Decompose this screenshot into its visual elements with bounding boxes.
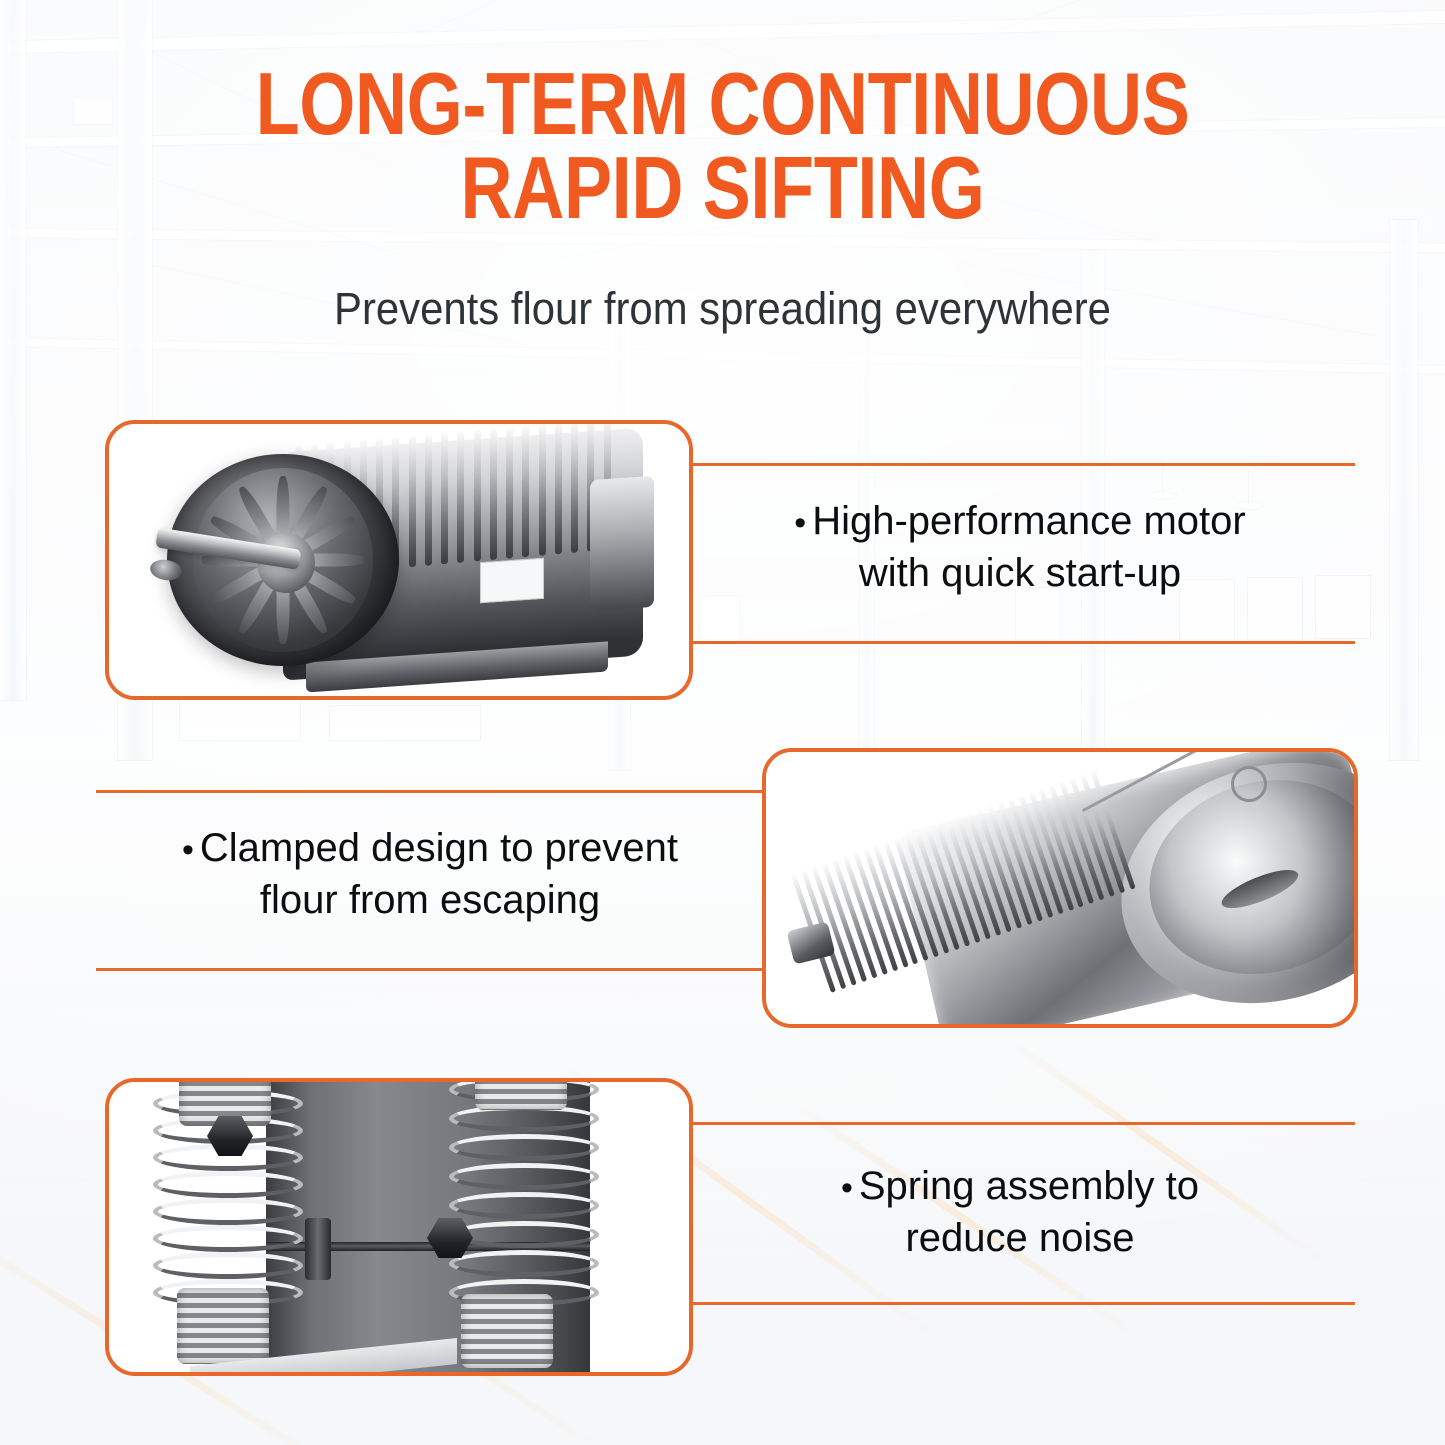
connector-line-spring-bottom <box>683 1302 1355 1305</box>
motor-end-cap <box>590 476 654 611</box>
feature-clamp-line-1: Clamped design to prevent <box>200 826 678 870</box>
spring-assembly-photo <box>109 1082 689 1372</box>
bullet-icon: • <box>182 831 200 869</box>
feature-text-clamp: •Clamped design to prevent flour from es… <box>110 822 750 926</box>
spring-mount-bottom-right <box>461 1294 553 1368</box>
connector-line-clamp-top <box>96 790 768 793</box>
product-infographic: LONG-TERM CONTINUOUS RAPID SIFTING Preve… <box>0 0 1445 1445</box>
feature-card-motor[interactable] <box>105 420 693 700</box>
motor-nameplate <box>480 558 544 603</box>
feature-card-spring[interactable] <box>105 1078 693 1376</box>
feature-spring-line-2: reduce noise <box>700 1212 1340 1264</box>
bullet-icon: • <box>841 1169 859 1207</box>
feature-text-spring: •Spring assembly to reduce noise <box>700 1160 1340 1264</box>
spring-hook-loop <box>1231 766 1267 802</box>
bullet-icon: • <box>794 504 812 542</box>
headline-line-2: RAPID SIFTING <box>130 146 1315 230</box>
feature-motor-line-1-wrap: •High-performance motor <box>700 495 1340 547</box>
coil-spring-right <box>449 1082 599 1328</box>
feature-spring-line-1-wrap: •Spring assembly to <box>700 1160 1340 1212</box>
feature-clamp-line-2: flour from escaping <box>110 874 750 926</box>
connector-line-spring-top <box>683 1122 1355 1125</box>
feature-motor-line-1: High-performance motor <box>812 499 1246 543</box>
drum-clamp-photo <box>766 752 1354 1024</box>
mounting-bracket <box>305 1218 331 1280</box>
feature-card-clamp[interactable] <box>762 748 1358 1028</box>
feature-motor-line-2: with quick start-up <box>700 547 1340 599</box>
connector-line-clamp-bottom <box>96 968 768 971</box>
connector-line-motor-top <box>683 463 1355 466</box>
page-title: LONG-TERM CONTINUOUS RAPID SIFTING <box>130 62 1315 229</box>
spring-mount-top-right <box>475 1082 567 1110</box>
motor-photo <box>109 424 689 696</box>
feature-clamp-line-1-wrap: •Clamped design to prevent <box>110 822 750 874</box>
page-subtitle: Prevents flour from spreading everywhere <box>51 283 1395 335</box>
feature-spring-line-1: Spring assembly to <box>859 1164 1199 1208</box>
spring-mount-bottom-left <box>177 1288 269 1364</box>
feature-text-motor: •High-performance motor with quick start… <box>700 495 1340 599</box>
connector-line-motor-bottom <box>683 641 1355 644</box>
